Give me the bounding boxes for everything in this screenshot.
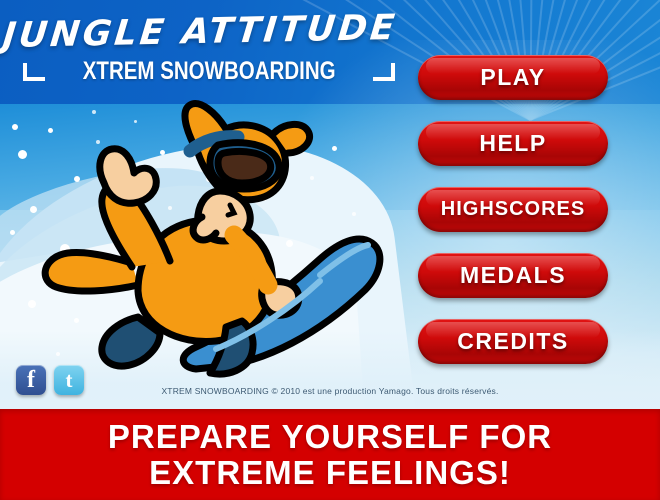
tagline-line-2: EXTREME FEELINGS!: [149, 455, 511, 491]
snow-flake: [10, 230, 15, 235]
copyright-text: XTREM SNOWBOARDING © 2010 est une produc…: [0, 386, 660, 396]
game-subtitle: XTREM SNOWBOARDING: [83, 57, 336, 86]
highscores-button[interactable]: HIGHSCORES: [418, 187, 608, 232]
snowboarder-character-illustration: [20, 95, 410, 385]
game-title: JUNGLE ATTITUDE: [0, 8, 403, 56]
medals-button[interactable]: MEDALS: [418, 253, 608, 298]
help-button[interactable]: HELP: [418, 121, 608, 166]
credits-button[interactable]: CREDITS: [418, 319, 608, 364]
bracket-right-decoration: [373, 63, 395, 81]
bracket-left-decoration: [23, 63, 45, 81]
tagline-banner: PREPARE YOURSELF FOR EXTREME FEELINGS!: [0, 409, 660, 500]
highscores-button-label: HIGHSCORES: [418, 187, 608, 232]
medals-button-label: MEDALS: [418, 253, 608, 298]
credits-button-label: CREDITS: [418, 319, 608, 364]
game-title-block: JUNGLE ATTITUDE XTREM SNOWBOARDING: [0, 12, 400, 86]
tagline-line-1: PREPARE YOURSELF FOR: [108, 419, 552, 455]
game-menu-screen: JUNGLE ATTITUDE XTREM SNOWBOARDING PLAY …: [0, 0, 660, 500]
snow-flake: [12, 124, 18, 130]
main-menu: PLAY HELP HIGHSCORES MEDALS CREDITS: [418, 55, 608, 385]
play-button-label: PLAY: [418, 55, 608, 100]
help-button-label: HELP: [418, 121, 608, 166]
play-button[interactable]: PLAY: [418, 55, 608, 100]
game-subtitle-row: XTREM SNOWBOARDING: [0, 57, 400, 86]
